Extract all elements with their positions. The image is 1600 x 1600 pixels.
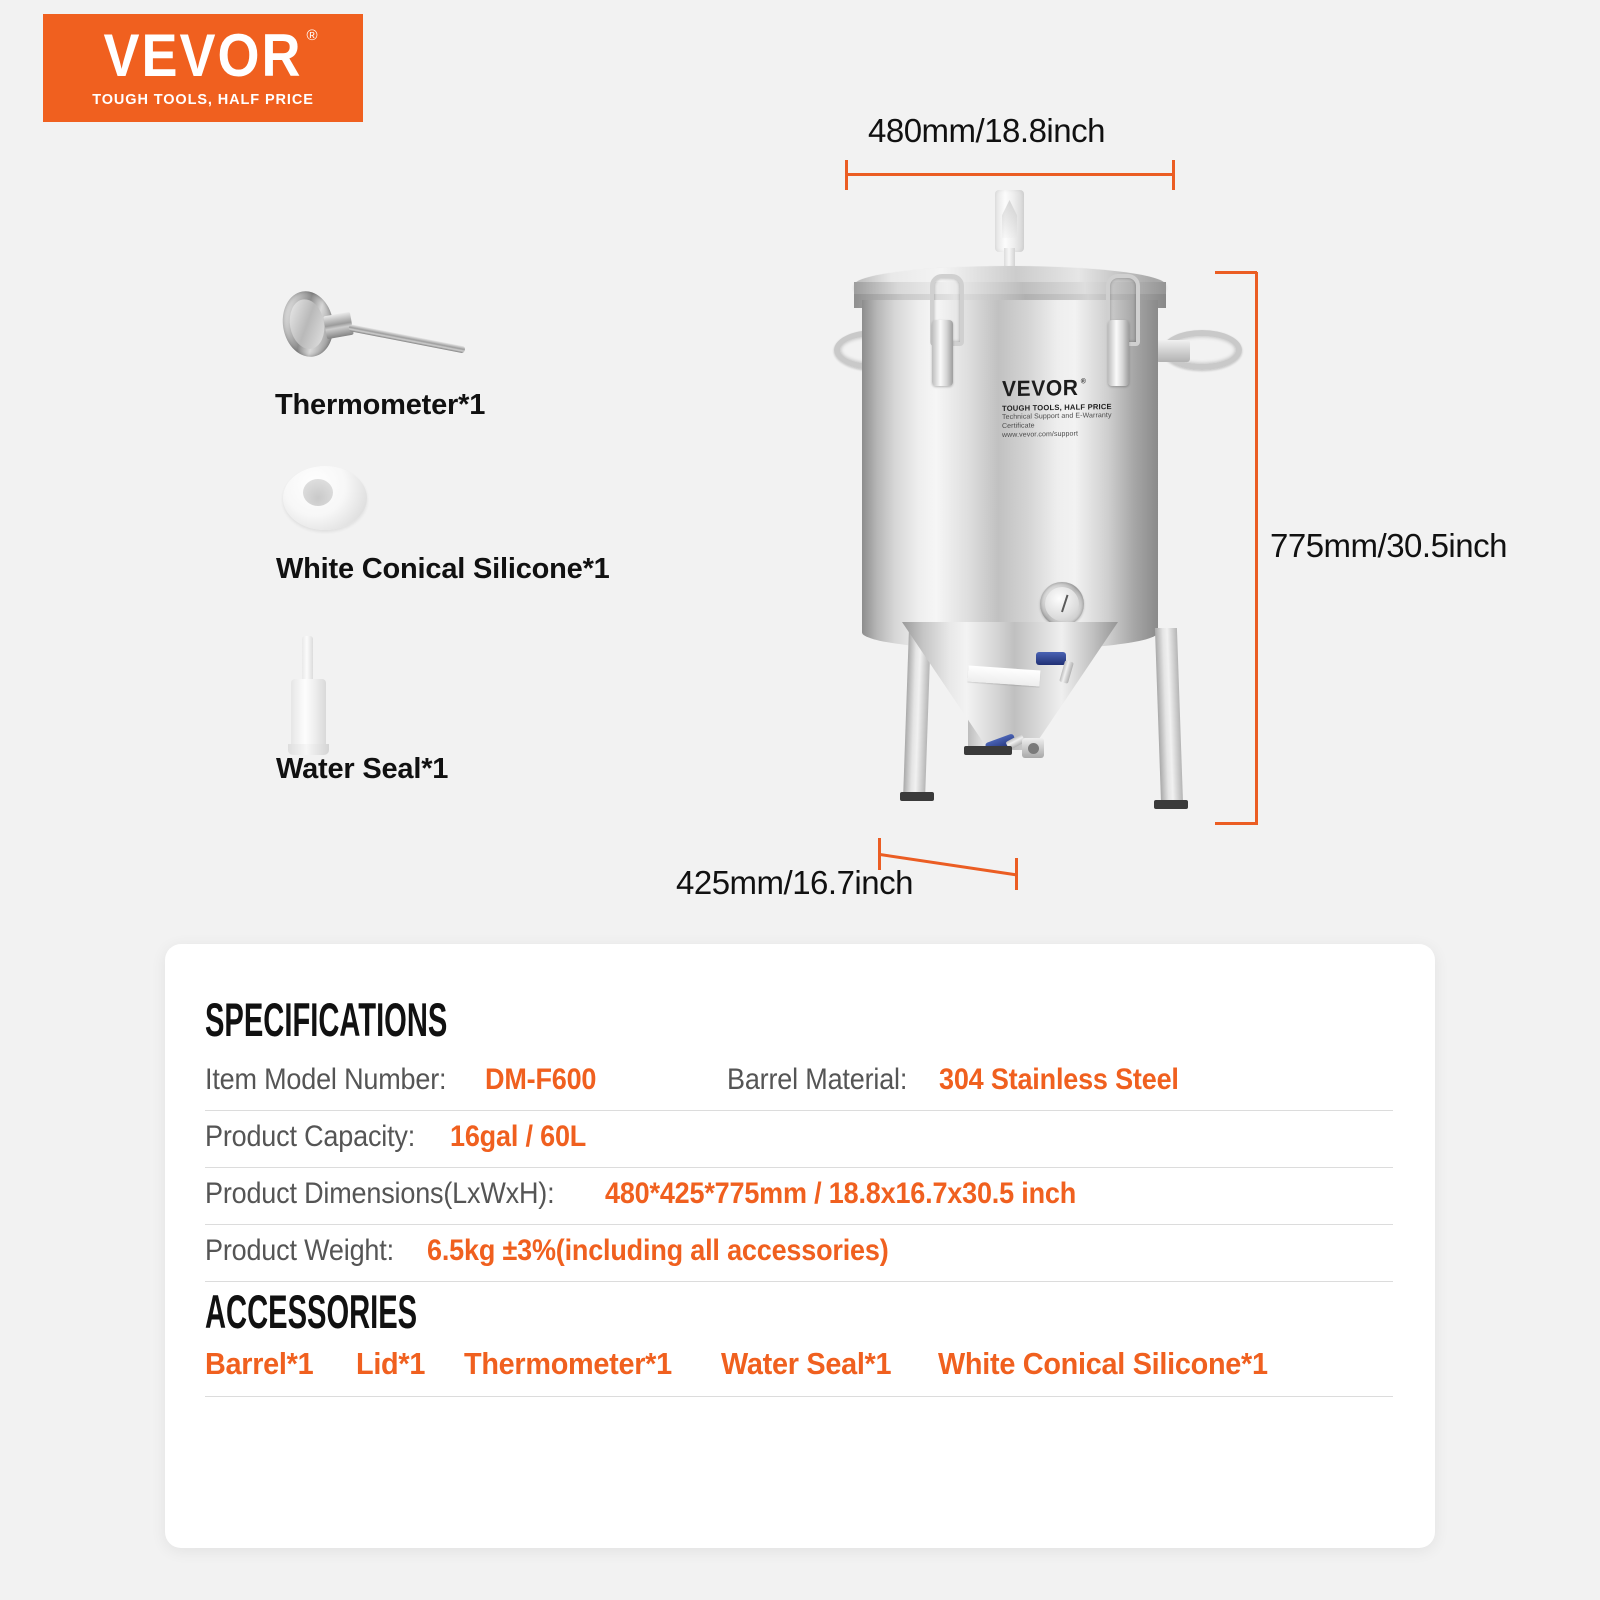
spec-value-material: 304 Stainless Steel	[939, 1063, 1179, 1097]
leg-foot-middle	[964, 746, 1012, 755]
spec-value-weight: 6.5kg ±3%(including all accessories)	[427, 1234, 889, 1268]
spec-pair-capacity: Product Capacity: 16gal / 60L	[205, 1120, 602, 1154]
spec-row-3: Product Dimensions(LxWxH): 480*425*775mm…	[205, 1168, 1393, 1225]
conical-silicone-icon	[283, 466, 373, 534]
spec-pair-weight: Product Weight: 6.5kg ±3%(including all …	[205, 1234, 940, 1268]
airlock-icon	[995, 190, 1024, 252]
dimension-line-height	[1255, 272, 1258, 825]
leg-foot-right	[1154, 800, 1188, 809]
accessory-label-water-seal: Water Seal*1	[276, 753, 448, 786]
spec-pair-material: Barrel Material: 304 Stainless Steel	[727, 1063, 1206, 1097]
conical-fermenter-image: VEVOR® TOUGH TOOLS, HALF PRICE Technical…	[840, 190, 1240, 830]
thermometer-dial-icon	[283, 288, 503, 368]
barrel-brand-word-text: VEVOR	[1002, 376, 1079, 401]
dimension-tick-width-left	[845, 160, 848, 190]
spec-row-4: Product Weight: 6.5kg ±3%(including all …	[205, 1225, 1393, 1282]
barrel-support-line-2: Certificate www.vevor.com/support	[1002, 420, 1112, 441]
dimension-tick-height-top	[1215, 271, 1257, 274]
latch-clamp-left	[930, 274, 956, 386]
dimension-label-height: 775mm/30.5inch	[1270, 527, 1507, 565]
spec-value-capacity: 16gal / 60L	[450, 1120, 586, 1154]
barrel-brand-word: VEVOR®	[1002, 377, 1079, 400]
specifications-card: SPECIFICATIONS Item Model Number: DM-F60…	[165, 944, 1435, 1548]
accessory-item-water-seal: Water Seal*1	[721, 1346, 891, 1382]
latch-lever-left	[932, 320, 953, 386]
spec-pair-dimensions: Product Dimensions(LxWxH): 480*425*775mm…	[205, 1177, 1129, 1211]
water-seal-barrel	[291, 679, 326, 751]
logo-tagline: TOUGH TOOLS, HALF PRICE	[92, 92, 314, 108]
leg-foot-left	[900, 792, 934, 801]
accessories-title: ACCESSORIES	[205, 1288, 942, 1336]
barrel-registered-mark-icon: ®	[1081, 378, 1087, 385]
conical-bottom	[902, 622, 1118, 750]
spec-pair-model: Item Model Number: DM-F600	[205, 1063, 609, 1097]
spec-value-dimensions: 480*425*775mm / 18.8x16.7x30.5 inch	[605, 1177, 1076, 1211]
dimension-label-width: 480mm/18.8inch	[868, 112, 1105, 150]
handle-mount-right	[1156, 340, 1190, 362]
dimension-tick-depth-right	[1015, 858, 1018, 890]
dimension-tick-height-bottom	[1215, 822, 1257, 825]
spec-key-material: Barrel Material:	[727, 1063, 907, 1097]
dimension-tick-width-right	[1172, 160, 1175, 190]
spec-key-weight: Product Weight:	[205, 1234, 394, 1268]
accessory-label-silicone: White Conical Silicone*1	[276, 553, 610, 586]
spec-value-model: DM-F600	[485, 1063, 596, 1097]
accessory-item-lid: Lid*1	[356, 1346, 425, 1382]
accessory-item-silicone: White Conical Silicone*1	[938, 1346, 1268, 1382]
barrel-brand-label: VEVOR® TOUGH TOOLS, HALF PRICE Technical…	[1002, 377, 1112, 441]
dimension-line-width	[845, 173, 1175, 176]
specifications-title: SPECIFICATIONS	[205, 996, 942, 1044]
accessory-item-thermometer: Thermometer*1	[464, 1346, 672, 1382]
product-infographic: VEVOR ® TOUGH TOOLS, HALF PRICE Thermome…	[0, 0, 1600, 1600]
water-seal-icon	[285, 636, 345, 756]
spec-key-model: Item Model Number:	[205, 1063, 446, 1097]
thermometer-probe-stem	[348, 324, 465, 353]
logo-word-text: VEVOR	[103, 22, 302, 89]
leg-right	[1155, 628, 1183, 804]
spec-row-1: Item Model Number: DM-F600 Barrel Materi…	[205, 1054, 1393, 1111]
sampling-valve-handle	[1036, 652, 1066, 665]
barrel-support-line-1: Technical Support and E-Warranty	[1002, 411, 1112, 422]
accessory-item-barrel: Barrel*1	[205, 1346, 313, 1382]
spec-key-dimensions: Product Dimensions(LxWxH):	[205, 1177, 554, 1211]
spec-key-capacity: Product Capacity:	[205, 1120, 415, 1154]
side-handle-right	[1162, 330, 1242, 370]
dump-valve-port	[1022, 738, 1044, 758]
dimension-label-depth: 425mm/16.7inch	[676, 864, 913, 902]
registered-mark-icon: ®	[306, 27, 319, 42]
accessories-list: Barrel*1 Lid*1 Thermometer*1 Water Seal*…	[205, 1346, 1393, 1397]
water-seal-tube	[302, 636, 313, 684]
vevor-logo: VEVOR ® TOUGH TOOLS, HALF PRICE	[43, 14, 363, 122]
gauge-needle	[1061, 595, 1068, 613]
latch-clamp-right	[1106, 274, 1132, 386]
spec-row-2: Product Capacity: 16gal / 60L	[205, 1111, 1393, 1168]
silicone-hole	[303, 479, 333, 506]
accessory-label-thermometer: Thermometer*1	[275, 389, 485, 422]
body-thermometer-gauge-icon	[1040, 582, 1084, 626]
logo-wordmark: VEVOR ®	[103, 25, 302, 85]
